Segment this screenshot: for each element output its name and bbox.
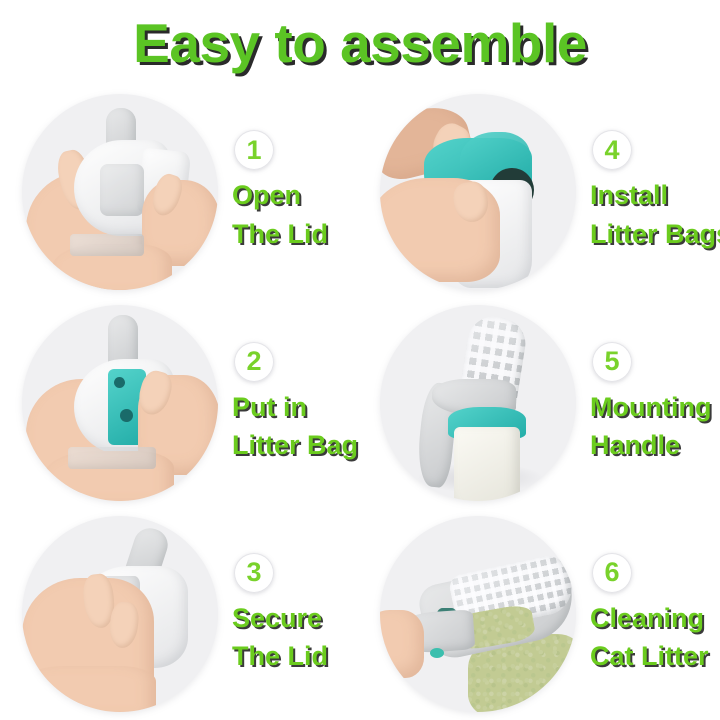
step-number-badge-1: 1 — [234, 130, 274, 170]
step-label-line1-5: Mounting — [590, 388, 720, 426]
step-number-badge-6: 6 — [592, 553, 632, 593]
step-text-1: 1 Open The Lid — [218, 94, 358, 290]
step-number-badge-4: 4 — [592, 130, 632, 170]
step-number-badge-5: 5 — [592, 342, 632, 382]
step-card-3: 3 Secure The Lid — [0, 509, 358, 720]
step-number-badge-2: 2 — [234, 342, 274, 382]
step-label-line1-3: Secure — [232, 599, 358, 637]
step-label-line1-2: Put in — [232, 388, 358, 426]
scoop-edge-shape — [68, 447, 156, 469]
step-label-line2-3: The Lid — [232, 637, 358, 675]
step-text-3: 3 Secure The Lid — [218, 516, 358, 712]
step-number-5: 5 — [605, 348, 620, 375]
inner-cavity-shape — [100, 164, 144, 216]
step-photo-3 — [22, 516, 218, 712]
steps-grid: 1 Open The Lid 4 Install Litter — [0, 86, 720, 720]
step-number-1: 1 — [246, 137, 261, 164]
step-photo-wrap-6 — [380, 516, 576, 712]
step-photo-5 — [380, 305, 576, 501]
step-label-line1-4: Install — [590, 176, 720, 214]
step-text-6: 6 Cleaning Cat Litter — [576, 516, 720, 712]
step-photo-wrap-5 — [380, 305, 576, 501]
page-header: Easy to assemble — [0, 0, 720, 86]
step-photo-wrap-1 — [22, 94, 218, 290]
step-number-2: 2 — [246, 348, 261, 375]
scoop-edge-shape — [70, 234, 144, 256]
step-text-2: 2 Put in Litter Bag — [218, 305, 358, 501]
step-label-line2-6: Cat Litter — [590, 637, 720, 675]
step-photo-2 — [22, 305, 218, 501]
step-card-4: 4 Install Litter Bags — [358, 86, 720, 297]
page-title: Easy to assemble — [133, 16, 587, 71]
step-card-2: 2 Put in Litter Bag — [0, 297, 358, 508]
teal-button-shape — [430, 648, 444, 658]
step-label-line2-1: The Lid — [232, 215, 358, 253]
step-label-line2-5: Handle — [590, 426, 720, 464]
bag-print-dot — [114, 377, 125, 388]
step-photo-6 — [380, 516, 576, 712]
step-number-3: 3 — [246, 559, 261, 586]
step-photo-1 — [22, 94, 218, 290]
step-card-5: 5 Mounting Handle — [358, 297, 720, 508]
step-text-5: 5 Mounting Handle — [576, 305, 720, 501]
wrist-shape — [22, 666, 156, 712]
step-photo-wrap-3 — [22, 516, 218, 712]
step-number-6: 6 — [605, 559, 620, 586]
step-label-line2-4: Litter Bags — [590, 215, 720, 253]
hand-shape — [380, 610, 424, 678]
step-card-6: 6 Cleaning Cat Litter — [358, 509, 720, 720]
bag-print-dot — [120, 409, 133, 422]
white-cup-shape — [454, 427, 520, 501]
step-card-1: 1 Open The Lid — [0, 86, 358, 297]
step-text-4: 4 Install Litter Bags — [576, 94, 720, 290]
step-photo-wrap-2 — [22, 305, 218, 501]
step-photo-wrap-4 — [380, 94, 576, 290]
step-label-line1-6: Cleaning — [590, 599, 720, 637]
step-photo-4 — [380, 94, 576, 290]
step-label-line2-2: Litter Bag — [232, 426, 358, 464]
step-number-4: 4 — [605, 137, 620, 164]
step-label-line1-1: Open — [232, 176, 358, 214]
step-number-badge-3: 3 — [234, 553, 274, 593]
